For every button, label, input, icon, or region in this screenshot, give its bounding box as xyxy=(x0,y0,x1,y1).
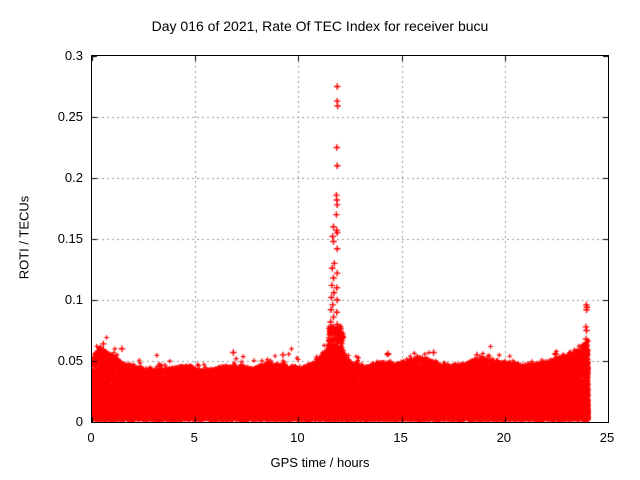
scatter-plot-canvas xyxy=(92,56,608,422)
x-axis-label: GPS time / hours xyxy=(0,455,640,470)
plot-area xyxy=(91,55,609,423)
x-tick-label: 25 xyxy=(577,431,637,444)
x-tick-label: 0 xyxy=(61,431,121,444)
roti-scatter-figure: Day 016 of 2021, Rate Of TEC Index for r… xyxy=(0,0,640,480)
x-tick-label: 5 xyxy=(164,431,224,444)
x-tick-label: 15 xyxy=(371,431,431,444)
x-tick-label: 10 xyxy=(267,431,327,444)
x-tick-label: 20 xyxy=(474,431,534,444)
